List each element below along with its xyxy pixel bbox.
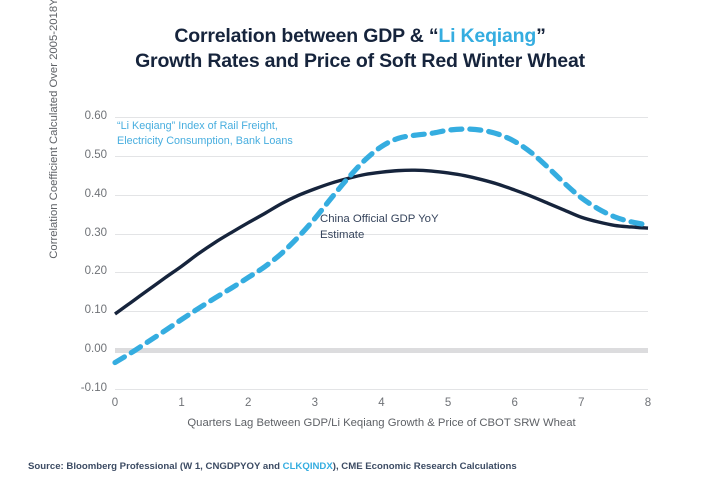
x-axis-tick-label: 5 — [428, 397, 468, 409]
title-line-2: Growth Rates and Price of Soft Red Winte… — [0, 49, 720, 74]
y-axis-tick-label: -0.10 — [61, 382, 107, 394]
y-axis-tick-label: 0.60 — [61, 110, 107, 122]
y-axis-tick-label: 0.10 — [61, 304, 107, 316]
annotation-li-keqiang-index: “Li Keqiang” Index of Rail Freight, Elec… — [117, 119, 293, 150]
y-axis-tick-label: 0.50 — [61, 149, 107, 161]
title-line-1: Correlation between GDP & “Li Keqiang” — [0, 24, 720, 49]
x-axis-tick-label: 4 — [362, 397, 402, 409]
x-axis-tick-label: 2 — [228, 397, 268, 409]
x-axis-tick-label: 1 — [162, 397, 202, 409]
gridline — [115, 389, 648, 390]
y-axis-tick-label: 0.00 — [61, 343, 107, 355]
x-axis-tick-label: 8 — [628, 397, 668, 409]
page-title: Correlation between GDP & “Li Keqiang” G… — [0, 24, 720, 75]
source-pre: Source: Bloomberg Professional (W 1, CNG… — [28, 461, 283, 472]
source-note: Source: Bloomberg Professional (W 1, CNG… — [28, 461, 517, 472]
annotation-china-gdp: China Official GDP YoY Estimate — [320, 211, 439, 243]
x-axis-tick-label: 3 — [295, 397, 335, 409]
source-post: ), CME Economic Research Calculations — [333, 461, 517, 472]
x-axis-tick-label: 0 — [95, 397, 135, 409]
series-line-li-keqiang-index — [115, 129, 648, 363]
x-axis-tick-label: 7 — [561, 397, 601, 409]
plot-area — [115, 117, 648, 389]
x-axis-tick-label: 6 — [495, 397, 535, 409]
y-axis-tick-label: 0.40 — [61, 188, 107, 200]
title-part-post: ” — [536, 25, 546, 47]
x-axis-title: Quarters Lag Between GDP/Li Keqiang Grow… — [115, 415, 648, 431]
data-series-layer — [115, 117, 648, 389]
title-part-pre: Correlation between GDP & “ — [174, 25, 438, 47]
y-axis-title: Correlation Coefficient Calculated Over … — [48, 0, 60, 271]
title-part-accent: Li Keqiang — [438, 25, 536, 47]
y-axis-tick-label: 0.20 — [61, 265, 107, 277]
chart-container: Correlation between GDP & “Li Keqiang” G… — [0, 0, 720, 500]
y-axis-tick-label: 0.30 — [61, 227, 107, 239]
source-ticker-link[interactable]: CLKQINDX — [283, 461, 333, 472]
